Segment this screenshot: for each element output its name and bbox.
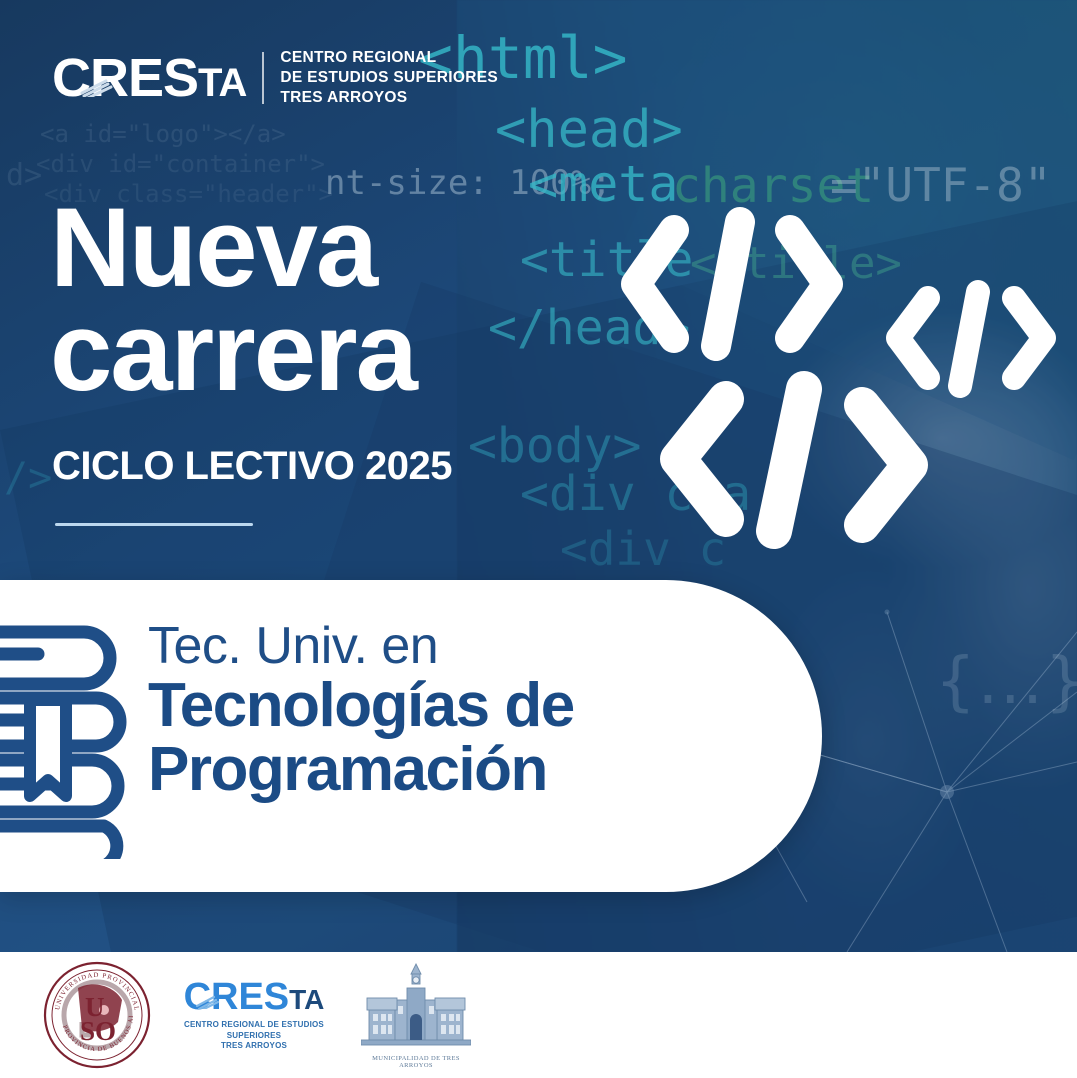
footer-section: U SO UNIVERSIDAD PROVINCIAL DEL SUDOESTE… [0,952,1077,1078]
cresta-wordmark: CRESTA [52,51,246,105]
footer-logos: U SO UNIVERSIDAD PROVINCIAL DEL SUDOESTE… [42,960,476,1070]
municipalidad-logo: MUNICIPALIDAD DE TRES ARROYOS [356,962,476,1069]
degree-card: Tec. Univ. en Tecnologías de Programació… [0,580,822,892]
municipal-building-icon [361,962,471,1046]
logo-divider [262,52,264,104]
code-tag-icon [612,192,852,377]
header-logo: CRESTA CENTRO REGIONAL DE ESTUDIOS SUPER… [52,48,498,108]
hero-section: <a id="logo"></a> <div id="container"> <… [0,0,1077,952]
logo-subtitle-line1: CENTRO REGIONAL [280,48,498,68]
subheadline: CICLO LECTIVO 2025 [52,444,452,489]
poster: <a id="logo"></a> <div id="container"> <… [0,0,1077,1078]
cresta-logo: CRESTA CENTRO REGIONAL DE ESTUDIOS SUPER… [174,978,334,1052]
curly-brace-watermark: {...} [935,645,1077,719]
cresta-footer-subtitle: CENTRO REGIONAL DE ESTUDIOS SUPERIORES T… [174,1020,334,1052]
divider-rule [55,523,253,526]
degree-prefix: Tec. Univ. en [148,618,574,674]
cresta-word-main: CRES [52,51,198,105]
stacked-books-icon [0,614,132,859]
headline-line1: Nueva [50,196,416,300]
swoosh-icon [196,994,220,1009]
cresta-word-accent: TA [198,63,246,103]
code-line-faint: <div id="container"> [36,150,325,178]
code-tag-icon [648,355,938,563]
degree-line2: Programación [148,738,574,802]
headline-line2: carrera [50,300,416,404]
cresta-footer-wordmark: CRESTA [174,978,334,1016]
code-line-faint: <a id="logo"></a> [40,120,286,148]
logo-subtitle-line3: TRES ARROYOS [280,88,498,108]
headline: Nueva carrera [50,196,416,404]
upso-seal: U SO UNIVERSIDAD PROVINCIAL DEL SUDOESTE… [42,960,152,1070]
code-line-faint: d> [6,158,42,193]
logo-subtitle: CENTRO REGIONAL DE ESTUDIOS SUPERIORES T… [280,48,498,108]
cresta-footer-subtitle-line2: TRES ARROYOS [174,1041,334,1052]
municipalidad-caption: MUNICIPALIDAD DE TRES ARROYOS [356,1055,476,1069]
swoosh-icon [80,77,114,97]
logo-subtitle-line2: DE ESTUDIOS SUPERIORES [280,68,498,88]
svg-text:SO: SO [80,1016,116,1046]
degree-line1: Tecnologías de [148,674,574,738]
cresta-footer-subtitle-line1: CENTRO REGIONAL DE ESTUDIOS SUPERIORES [174,1020,334,1042]
cresta-footer-word-accent: TA [289,986,324,1014]
degree-text: Tec. Univ. en Tecnologías de Programació… [148,618,574,802]
